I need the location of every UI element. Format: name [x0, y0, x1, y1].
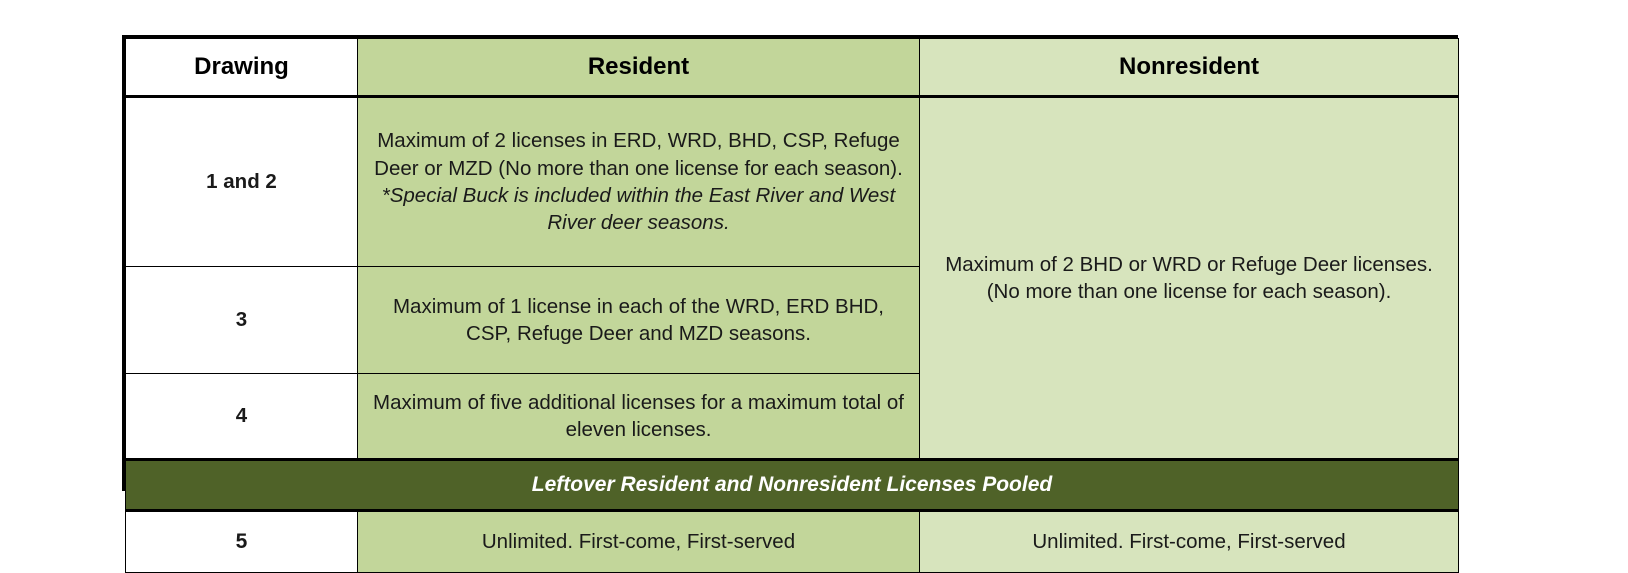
- cell-drawing-5: 5: [126, 511, 358, 573]
- cell-nonresident-merged: Maximum of 2 BHD or WRD or Refuge Deer l…: [920, 97, 1459, 460]
- cell-resident-1: Maximum of 2 licenses in ERD, WRD, BHD, …: [358, 97, 920, 267]
- table-row: 5 Unlimited. First-come, First-served Un…: [126, 511, 1459, 573]
- cell-resident-3: Maximum of five additional licenses for …: [358, 374, 920, 460]
- column-header-resident: Resident: [358, 39, 920, 97]
- license-drawing-table: Drawing Resident Nonresident 1 and 2 Max…: [122, 35, 1458, 491]
- table: Drawing Resident Nonresident 1 and 2 Max…: [125, 38, 1459, 573]
- page-root: Drawing Resident Nonresident 1 and 2 Max…: [0, 0, 1628, 564]
- cell-resident-2: Maximum of 1 license in each of the WRD,…: [358, 267, 920, 374]
- resident-text-1: Maximum of 2 licenses in ERD, WRD, BHD, …: [368, 127, 909, 182]
- table-header-row: Drawing Resident Nonresident: [126, 39, 1459, 97]
- column-header-nonresident: Nonresident: [920, 39, 1459, 97]
- table-row: 1 and 2 Maximum of 2 licenses in ERD, WR…: [126, 97, 1459, 267]
- cell-drawing-2: 3: [126, 267, 358, 374]
- resident-note-1: *Special Buck is included within the Eas…: [368, 182, 909, 237]
- table-banner-row: Leftover Resident and Nonresident Licens…: [126, 460, 1459, 511]
- cell-nonresident-5: Unlimited. First-come, First-served: [920, 511, 1459, 573]
- cell-drawing-1: 1 and 2: [126, 97, 358, 267]
- leftover-licenses-banner: Leftover Resident and Nonresident Licens…: [126, 460, 1459, 511]
- column-header-drawing: Drawing: [126, 39, 358, 97]
- cell-drawing-3: 4: [126, 374, 358, 460]
- cell-resident-5: Unlimited. First-come, First-served: [358, 511, 920, 573]
